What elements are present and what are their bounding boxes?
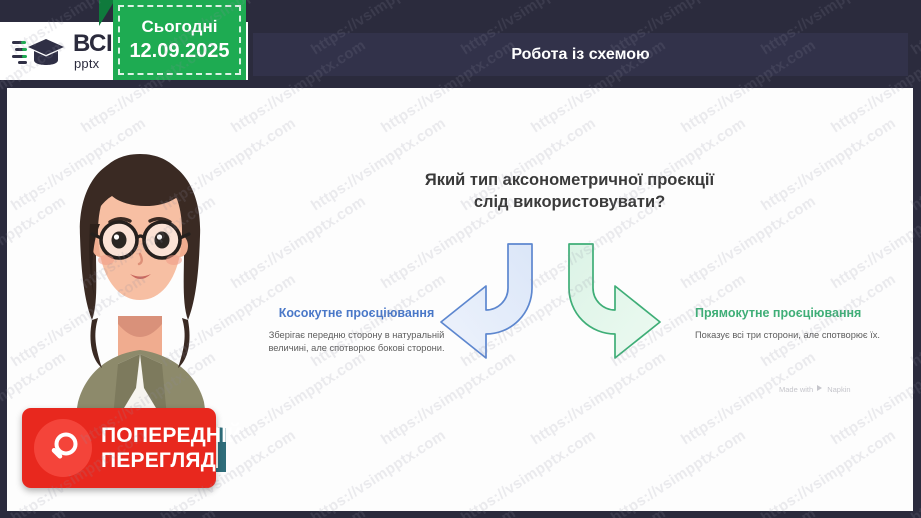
preview-badge-line2: ПЕРЕГЛЯД (101, 450, 243, 471)
page-title: Робота із схемою (511, 46, 649, 64)
diagram-question: Який тип аксонометричної проєкції слід в… (412, 170, 727, 214)
branch-right-heading: Прямокутне проєціювання (695, 306, 895, 320)
slide-root: ВСІМ pptx Сьогодні 12.09.2025 Робота із … (0, 0, 921, 518)
napkin-logo-icon (816, 384, 824, 394)
diagram-branch-left: Косокутне проєціювання Зберігає передню … (259, 306, 454, 356)
napkin-brand-name: Napkin (827, 385, 850, 394)
preview-badge-line1: ПОПЕРЕДНІЙ (101, 425, 243, 446)
napkin-credit: Made with Napkin (779, 384, 851, 394)
graduation-cap-icon (12, 34, 68, 68)
date-value: 12.09.2025 (129, 40, 229, 63)
date-label: Сьогодні (142, 17, 218, 37)
top-bar: ВСІМ pptx Сьогодні 12.09.2025 Робота із … (0, 0, 921, 88)
slide-title-bar: Робота із схемою (253, 33, 908, 76)
branch-left-heading: Косокутне проєціювання (259, 306, 454, 320)
napkin-credit-text: Made with (779, 385, 813, 394)
curved-arrow-left-icon (441, 244, 532, 358)
branch-left-description: Зберігає передню сторону в натуральній в… (259, 329, 454, 356)
magnifier-icon (34, 419, 92, 477)
date-badge: Сьогодні 12.09.2025 (113, 0, 246, 80)
branch-right-description: Показує всі три сторони, але спотворює ї… (695, 329, 895, 342)
preview-badge: ПОПЕРЕДНІЙ ПЕРЕГЛЯД (22, 408, 216, 488)
curved-arrow-right-icon (569, 244, 660, 358)
diagram-branch-right: Прямокутне проєціювання Показує всі три … (695, 306, 895, 342)
slide-canvas: Який тип аксонометричної проєкції слід в… (7, 88, 913, 511)
diagram-arrows (437, 240, 667, 370)
